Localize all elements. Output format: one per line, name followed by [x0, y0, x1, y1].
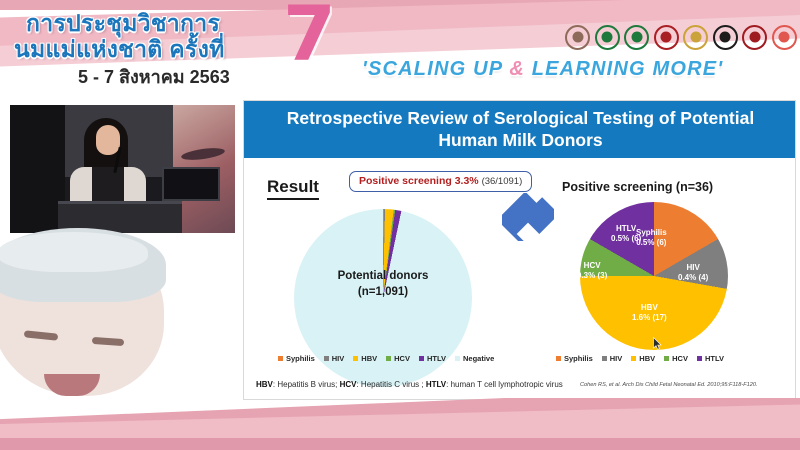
presentation-screenshot: การประชุมวิชาการ นมแม่แห่งชาติ ครั้งที่ …	[0, 0, 800, 450]
logo-royal-emblem-red	[654, 25, 679, 50]
blue-arrow-icon	[502, 193, 554, 241]
legend2-item-htlv: HTLV	[697, 354, 724, 363]
logo-department-health	[624, 25, 649, 50]
logo-royal-emblem-gold	[683, 25, 708, 50]
pie-label-htlv: HTLV 0.5% (6)	[611, 224, 641, 245]
slide-title: Retrospective Review of Serological Test…	[244, 101, 796, 158]
sponsor-logos	[565, 22, 797, 52]
legend-positive-screening: Syphilis HIV HBV HCV HTLV	[556, 354, 724, 363]
presentation-slide: Retrospective Review of Serological Test…	[243, 100, 796, 400]
legend-item-negative: Negative	[455, 354, 494, 363]
legend-potential-donors: Syphilis HIV HBV HCV HTLV Negative	[278, 354, 494, 363]
logo-thaihealth-sss	[772, 25, 797, 50]
legend2-item-hbv: HBV	[631, 354, 655, 363]
legend-item-hiv: HIV	[324, 354, 345, 363]
tagline-part1: 'SCALING UP	[362, 58, 509, 80]
logo-breastfeeding-foundation	[565, 25, 590, 50]
pie-label-hbv: HBV 1.6% (17)	[632, 303, 667, 324]
pie-label-htlv-name: HTLV	[611, 224, 641, 234]
callout-highlight-text: Positive screening 3.3%	[359, 175, 479, 187]
pie-label-htlv-value: 0.5% (6)	[611, 234, 641, 244]
footer-band	[0, 398, 800, 450]
legend-item-syphilis: Syphilis	[278, 354, 315, 363]
pie-left-title: Potential donors	[294, 269, 472, 285]
tagline-ampersand: &	[509, 58, 525, 80]
legend-item-hbv: HBV	[353, 354, 377, 363]
baby-hat-brim	[0, 232, 148, 272]
speaker-video-inset[interactable]	[10, 105, 235, 233]
pie-label-hiv: HIV 0.4% (4)	[678, 263, 708, 284]
chart-potential-donors-label: Potential donors (n=1,091)	[294, 269, 472, 300]
pie-left-subtitle: (n=1,091)	[294, 285, 472, 301]
logo-royal-college-red	[742, 25, 767, 50]
pie-label-hbv-name: HBV	[632, 303, 667, 313]
footnote-abbr-hcv: HCV	[340, 380, 357, 389]
pie-label-hiv-name: HIV	[678, 263, 708, 273]
logo-ministry-public-health	[595, 25, 620, 50]
conference-edition-number: 7	[283, 0, 336, 72]
pie-label-hiv-value: 0.4% (4)	[678, 273, 708, 283]
footer-stripe-bottom	[0, 438, 800, 450]
baby-illustration	[0, 228, 202, 418]
positive-screening-callout: Positive screening 3.3% (36/1091)	[349, 171, 532, 192]
conference-tagline: 'SCALING UP & LEARNING MORE'	[362, 58, 723, 81]
mouse-cursor-icon	[653, 337, 662, 350]
chart-positive-screening-title: Positive screening (n=36)	[562, 180, 713, 194]
legend-item-hcv: HCV	[386, 354, 410, 363]
footnote-text-hbv: : Hepatitis B virus;	[273, 380, 340, 389]
footnote-text-hcv: : Hepatitis C virus ;	[356, 380, 425, 389]
legend2-item-hcv: HCV	[664, 354, 688, 363]
conference-banner: การประชุมวิชาการ นมแม่แห่งชาติ ครั้งที่ …	[0, 0, 800, 95]
laptop-icon	[162, 167, 220, 201]
logo-university-black	[713, 25, 738, 50]
footnote-abbr-hbv: HBV	[256, 380, 273, 389]
pie-label-hcv-value: 0.3% (3)	[577, 271, 607, 281]
pie-label-hcv: HCV 0.3% (3)	[577, 261, 607, 282]
tagline-part2: LEARNING MORE'	[525, 58, 723, 80]
legend2-item-syphilis: Syphilis	[556, 354, 593, 363]
video-background-left	[10, 105, 65, 233]
callout-fraction: (36/1091)	[482, 176, 523, 187]
legend-item-htlv: HTLV	[419, 354, 446, 363]
legend2-item-hiv: HIV	[602, 354, 623, 363]
slide-citation: Cohen RS, et al. Arch Dis Child Fetal Ne…	[580, 382, 758, 388]
result-heading: Result	[267, 177, 319, 200]
pie-label-hcv-name: HCV	[577, 261, 607, 271]
conference-date-thai: 5 - 7 สิงหาคม 2563	[78, 62, 230, 91]
pie-label-hbv-value: 1.6% (17)	[632, 313, 667, 323]
speaker-face	[96, 125, 120, 155]
footnote-text-htlv: : human T cell lymphotropic virus	[446, 380, 563, 389]
footnote-abbr-htlv: HTLV	[426, 380, 446, 389]
